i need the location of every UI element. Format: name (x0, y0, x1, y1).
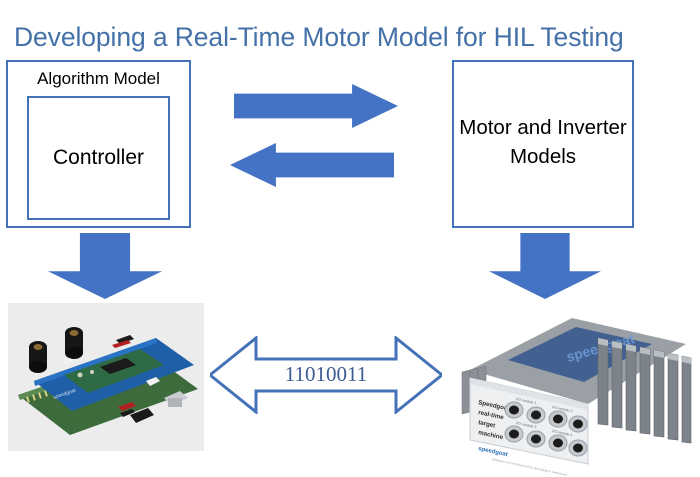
motor-inverter-models-label: Motor and Inverter Models (452, 113, 634, 171)
target-machine-photo: speedgoat (448, 300, 700, 477)
bitstream-label: 11010011 (210, 358, 442, 390)
arrow-down-right-icon (489, 233, 601, 299)
page-title: Developing a Real-Time Motor Model for H… (14, 20, 686, 54)
arrow-down-left-icon (48, 233, 162, 299)
arrow-right-icon (234, 84, 398, 128)
controller-board-photo: speedgoat (8, 303, 204, 451)
slide-canvas: Developing a Real-Time Motor Model for H… (0, 0, 700, 477)
arrow-left-icon (230, 143, 394, 187)
algorithm-model-label: Algorithm Model (6, 68, 191, 90)
controller-label: Controller (27, 144, 170, 171)
